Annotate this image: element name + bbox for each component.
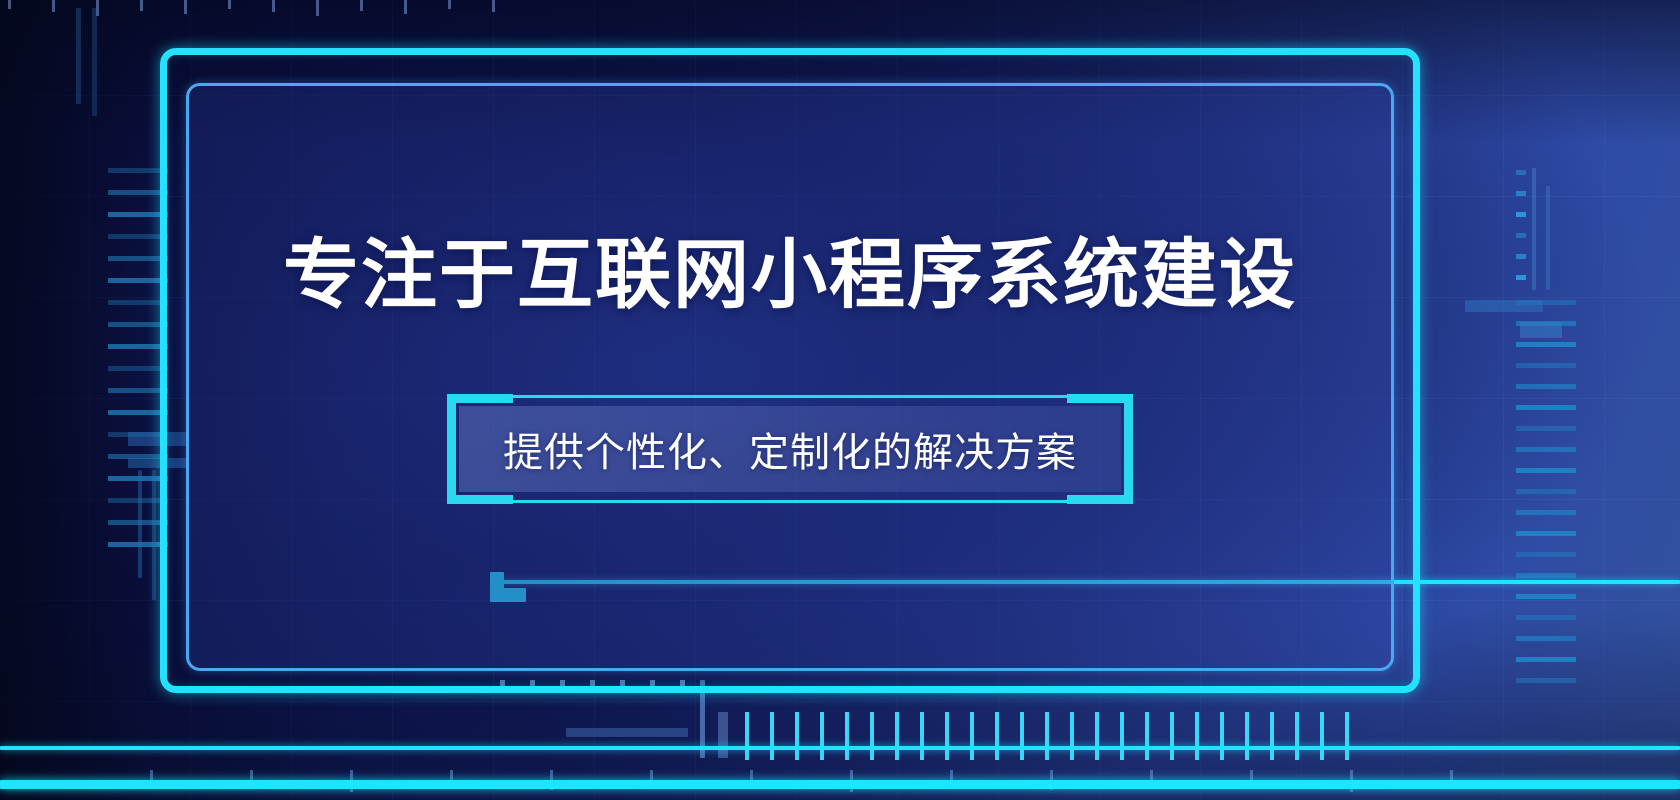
right-slab-lower xyxy=(1520,322,1562,338)
top-pin-a xyxy=(76,8,81,104)
banner-content: 专注于互联网小程序系统建设 提供个性化、定制化的解决方案 xyxy=(186,83,1394,671)
page-title: 专注于互联网小程序系统建设 xyxy=(283,238,1297,314)
left-pin-a xyxy=(138,470,142,578)
bottom-slab xyxy=(566,728,688,737)
right-pin-a xyxy=(1532,168,1536,290)
right-ruler-ticks xyxy=(1516,300,1576,708)
subtitle-text: 提供个性化、定制化的解决方案 xyxy=(503,431,1077,475)
subtitle-rail-bottom xyxy=(503,500,1077,503)
top-pin-b xyxy=(92,8,97,116)
right-pin-b xyxy=(1546,186,1550,290)
right-slab-upper xyxy=(1465,300,1543,312)
left-pin-b xyxy=(152,470,156,600)
subtitle-box: 提供个性化、定制化的解决方案 xyxy=(459,406,1121,492)
bottom-pin-short xyxy=(718,712,728,758)
subtitle-rail-top xyxy=(503,395,1077,398)
right-ruler-ticks-upper xyxy=(1516,170,1562,290)
bottom-rail-thin xyxy=(0,746,1680,750)
bottom-equalizer-bars xyxy=(745,712,1365,760)
promo-banner: 专注于互联网小程序系统建设 提供个性化、定制化的解决方案 xyxy=(0,0,1680,800)
bottom-rail-thick xyxy=(0,780,1680,789)
